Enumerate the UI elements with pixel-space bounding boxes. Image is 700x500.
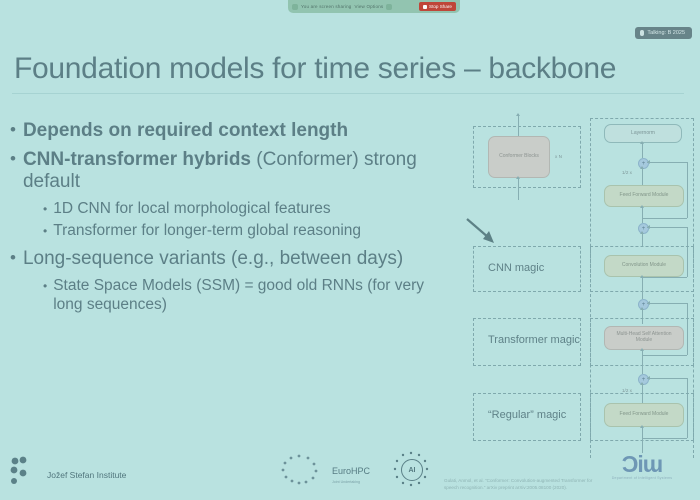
multi-head-attention-module: Multi-Head Self Attention Module: [604, 326, 684, 350]
connector-line: [642, 207, 643, 223]
bullet-text: Long-sequence variants (e.g., between da…: [23, 248, 403, 270]
talking-badge-label: Talking: B 2025: [647, 30, 685, 36]
connector-line: [642, 277, 643, 299]
bullet-lead: CNN-transformer hybrids: [23, 149, 251, 170]
cnn-magic-label: CNN magic: [488, 262, 544, 274]
zoom-logo-icon: [292, 4, 298, 10]
institute-name: Jožef Stefan Institute: [47, 470, 126, 480]
bullet-list: • Depends on required context length • C…: [10, 120, 462, 318]
list-item: • CNN-transformer hybrids (Conformer) st…: [10, 149, 462, 193]
connector-line: [642, 143, 643, 158]
arrow-head-icon: [647, 225, 650, 229]
eu-flag-stars-icon: [272, 452, 326, 486]
arrow-head-icon: [640, 425, 644, 428]
arrow-head-icon: [640, 205, 644, 208]
talking-badge: Talking: B 2025: [635, 27, 692, 39]
conformer-architecture-diagram: Conformer Blocks x N Layernorm + 1/2 x F…: [466, 112, 694, 457]
regular-magic-label: “Regular” magic: [488, 409, 566, 421]
list-item: • 1D CNN for local morphological feature…: [43, 200, 462, 219]
convolution-module: Convolution Module: [604, 255, 684, 277]
stop-square-icon: [423, 5, 427, 9]
list-item: • Long-sequence variants (e.g., between …: [10, 248, 462, 270]
residual-connector: [642, 218, 687, 219]
citation-text: Gulati, Anmol, et al. “Conformer: Convol…: [444, 478, 594, 492]
residual-connector: [687, 162, 688, 218]
arrow-head-icon: [640, 231, 644, 234]
repeat-count-label: x N: [555, 154, 562, 159]
connector-line: [642, 350, 643, 374]
share-status-label: You are screen sharing: [301, 4, 352, 9]
arrow-head-icon: [647, 301, 650, 305]
bullet-dot-icon: •: [10, 149, 16, 168]
connector-line: [642, 232, 643, 247]
transformer-magic-label: Transformer magic: [488, 334, 580, 346]
jozef-stefan-institute-logo-icon: [10, 456, 40, 486]
bullet-dot-icon: •: [10, 248, 16, 267]
arrow-head-icon: [640, 141, 644, 144]
bullet-text: 1D CNN for local morphological features: [53, 200, 330, 219]
residual-connector: [647, 303, 687, 304]
microphone-icon: [640, 30, 644, 36]
arrow-head-icon: [516, 176, 520, 179]
title-divider: [12, 93, 684, 94]
department-of-intelligent-systems-logo: Ɔiɯ Department of Intelligent Systems: [594, 452, 690, 486]
stop-share-button[interactable]: Stop Share: [419, 2, 456, 11]
dis-sublabel: Department of Intelligent Systems: [594, 476, 690, 480]
dis-wordmark: Ɔiɯ: [594, 452, 690, 476]
slide-canvas: Foundation models for time series – back…: [0, 46, 700, 500]
bullet-dot-icon: •: [43, 200, 47, 218]
arrow-head-icon: [647, 160, 650, 164]
connector-line: [518, 178, 519, 200]
arrow-head-icon: [640, 307, 644, 310]
eurohpc-label: EuroHPC: [332, 466, 370, 476]
conformer-blocks-module: Conformer Blocks: [488, 136, 550, 178]
scale-label-top: 1/2 x: [622, 170, 632, 175]
bullet-text: State Space Models (SSM) = good old RNNs…: [53, 277, 435, 314]
list-item: • Depends on required context length: [10, 120, 462, 142]
list-item: • State Space Models (SSM) = good old RN…: [43, 277, 462, 314]
view-options-label[interactable]: View Options: [355, 4, 384, 9]
connector-line: [518, 114, 519, 136]
residual-connector: [647, 162, 687, 163]
ai-program-logo: AI: [392, 450, 430, 488]
sub-bullet-group: • State Space Models (SSM) = good old RN…: [43, 277, 462, 314]
eurohpc-sublabel: Joint Undertaking: [332, 480, 360, 484]
screen-share-toolbar[interactable]: You are screen sharing View Options Stop…: [288, 0, 460, 13]
page-title: Foundation models for time series – back…: [14, 52, 616, 86]
expand-arrow-icon: [464, 216, 498, 246]
arrow-head-icon: [640, 348, 644, 351]
feed-forward-module-top: Feed Forward Module: [604, 185, 684, 207]
residual-connector: [647, 227, 687, 228]
arrow-head-icon: [647, 376, 650, 380]
connector-line: [642, 167, 643, 185]
arrow-head-icon: [640, 275, 644, 278]
arrow-head-icon: [640, 166, 644, 169]
ai-circle-label: AI: [401, 459, 423, 481]
pause-share-icon[interactable]: [386, 4, 392, 10]
sub-bullet-group: • 1D CNN for local morphological feature…: [43, 200, 462, 240]
bullet-text: Depends on required context length: [23, 120, 348, 142]
residual-connector: [647, 378, 687, 379]
bullet-text: Transformer for longer-term global reaso…: [53, 222, 361, 241]
bullet-dot-icon: •: [43, 222, 47, 240]
list-item: • Transformer for longer-term global rea…: [43, 222, 462, 241]
feed-forward-module-bottom: Feed Forward Module: [604, 403, 684, 427]
bullet-dot-icon: •: [43, 277, 47, 295]
arrow-head-icon: [516, 113, 520, 116]
slide-footer: Jožef Stefan Institute EuroHPC Joint Und…: [0, 448, 700, 500]
arrow-head-icon: [640, 382, 644, 385]
bullet-text: CNN-transformer hybrids (Conformer) stro…: [23, 149, 462, 193]
bullet-dot-icon: •: [10, 120, 16, 139]
stop-share-label: Stop Share: [429, 4, 452, 9]
